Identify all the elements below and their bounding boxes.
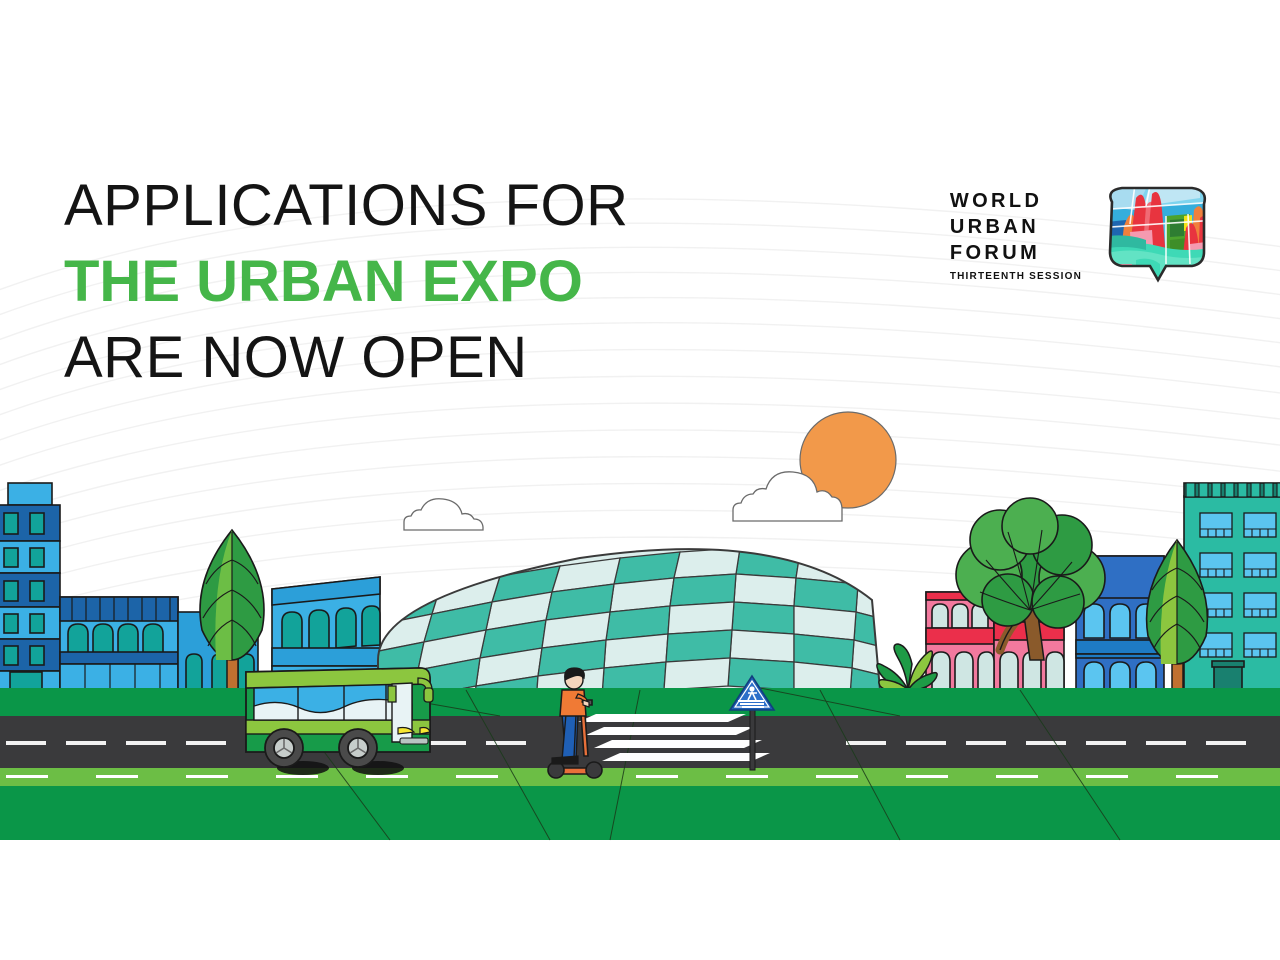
headline-line-2-accent: THE URBAN EXPO bbox=[64, 244, 628, 320]
headline-line-1: APPLICATIONS FOR bbox=[64, 168, 628, 244]
cloud-left-icon bbox=[404, 499, 483, 530]
logo-session-label: THIRTEENTH SESSION bbox=[950, 271, 1082, 282]
wuf-logo[interactable]: WORLD URBAN FORUM THIRTEENTH SESSION bbox=[950, 176, 1218, 288]
city-scene bbox=[0, 0, 1280, 960]
building-blue-arcade-left bbox=[60, 597, 178, 693]
wuf-cityscape-emblem-icon bbox=[1096, 176, 1218, 288]
headline-line-3: ARE NOW OPEN bbox=[64, 320, 628, 396]
grass-lower bbox=[0, 786, 1280, 840]
logo-word-forum: FORUM bbox=[950, 240, 1082, 266]
wuf-logo-wordmark: WORLD URBAN FORUM THIRTEENTH SESSION bbox=[950, 176, 1096, 282]
headline-block: APPLICATIONS FOR THE URBAN EXPO ARE NOW … bbox=[64, 168, 628, 396]
poster-canvas: APPLICATIONS FOR THE URBAN EXPO ARE NOW … bbox=[0, 0, 1280, 960]
logo-word-urban: URBAN bbox=[950, 214, 1082, 240]
logo-word-world: WORLD bbox=[950, 188, 1082, 214]
building-blue-tower-left bbox=[0, 483, 60, 695]
